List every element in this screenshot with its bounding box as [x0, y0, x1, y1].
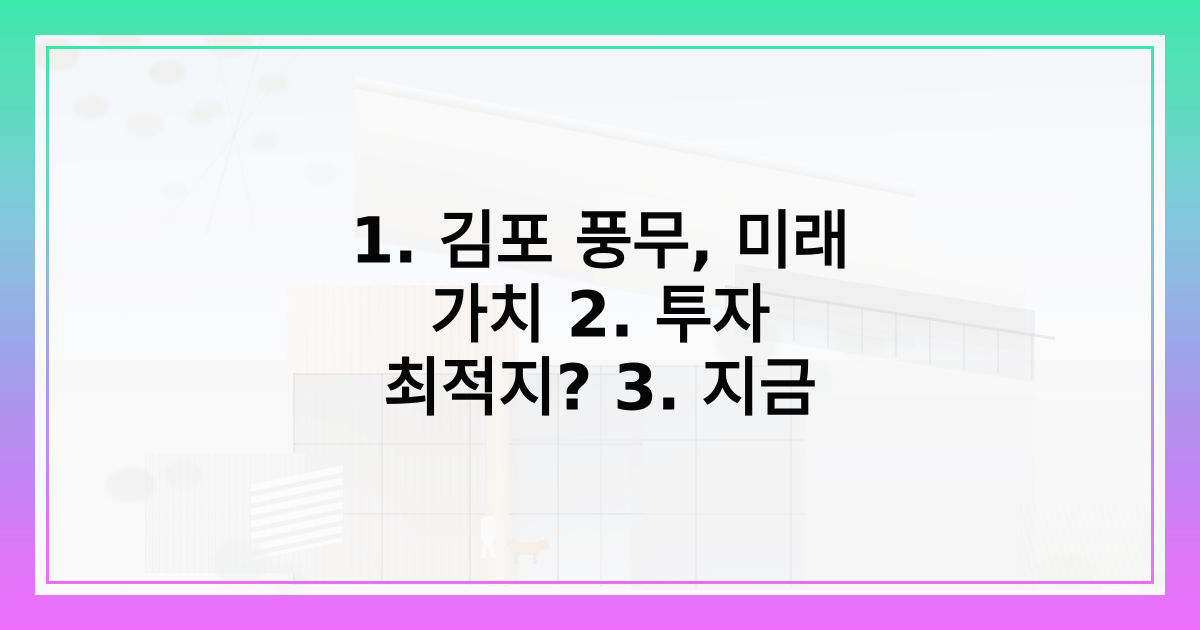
thumbnail-card: 1. 김포 풍무, 미래 가치 2. 투자 최적지? 3. 지금	[0, 0, 1200, 630]
headline-line-3: 최적지? 3. 지금	[110, 352, 1090, 426]
headline-line-1: 1. 김포 풍무, 미래	[110, 204, 1090, 278]
headline: 1. 김포 풍무, 미래 가치 2. 투자 최적지? 3. 지금	[0, 204, 1200, 425]
headline-line-2: 가치 2. 투자	[110, 278, 1090, 352]
